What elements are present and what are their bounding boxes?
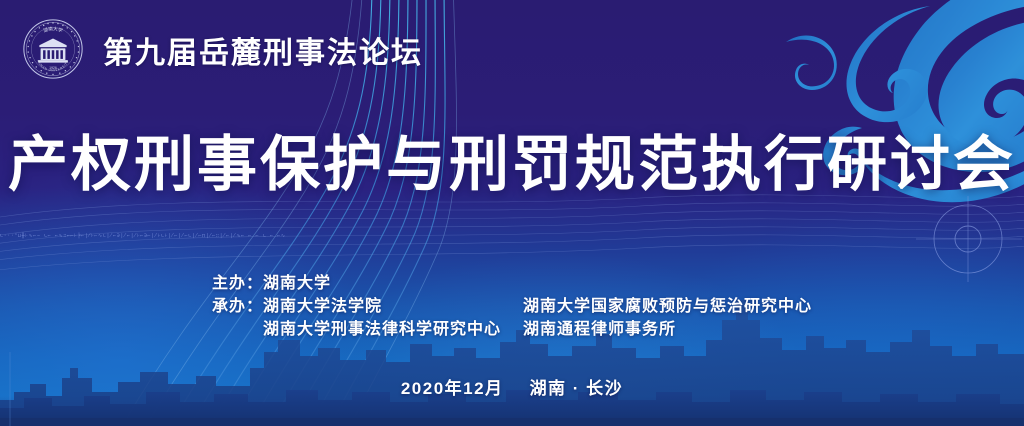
main-title: 产权刑事保护与刑罚规范执行研讨会 [0, 128, 1024, 202]
date-text: 2020年12月 [401, 379, 504, 398]
forum-subtitle: 第九届岳麓刑事法论坛 [103, 30, 423, 78]
coorganizer-left-2: 湖南大学刑事法律科学研究中心 [263, 321, 501, 338]
seal-year-text: 1926 [49, 66, 57, 70]
coorganizer-line-2: 承办：湖南大学刑事法律科学研究中心 [212, 319, 501, 341]
coorganizer-left-1: 湖南大学法学院 [263, 298, 382, 315]
coorganizer-line-1: 承办：湖南大学法学院 [212, 296, 501, 318]
coorganizer-label: 承办： [212, 298, 263, 315]
location-text: 湖南 · 长沙 [530, 379, 624, 398]
host-label: 主办： [212, 275, 263, 292]
coorganizer-right-1: 湖南大学国家腐败预防与惩治研究中心 [523, 296, 812, 318]
host-line: 主办：湖南大学 [212, 273, 501, 295]
organizer-grid: 主办：湖南大学 承办：湖南大学法学院 湖南大学国家腐败预防与惩治研究中心 承办：… [212, 273, 812, 341]
host-value: 湖南大学 [263, 275, 331, 292]
coorganizer-right-2: 湖南通程律师事务所 [523, 319, 812, 341]
seal-arc-top-text: 湖南大学 [42, 25, 64, 34]
organizer-block: 主办：湖南大学 承办：湖南大学法学院 湖南大学国家腐败预防与惩治研究中心 承办：… [0, 273, 1024, 341]
hunan-university-seal-logo: 湖南大学 HUNAN UNIVERSITY 1926 [22, 18, 84, 80]
host-right-spacer [523, 273, 812, 295]
conference-banner: ∟···ⁿ⊔╫⊦∿⌐− ∟⌐ ⌐∿∷⌐⌐⊦╞⌐∤⊦⌐∿∟∤⌐∋∤⌐∤⊦⌐∋⌐∤⊦… [0, 0, 1024, 426]
date-location-line: 2020年12月湖南 · 长沙 [0, 374, 1024, 399]
